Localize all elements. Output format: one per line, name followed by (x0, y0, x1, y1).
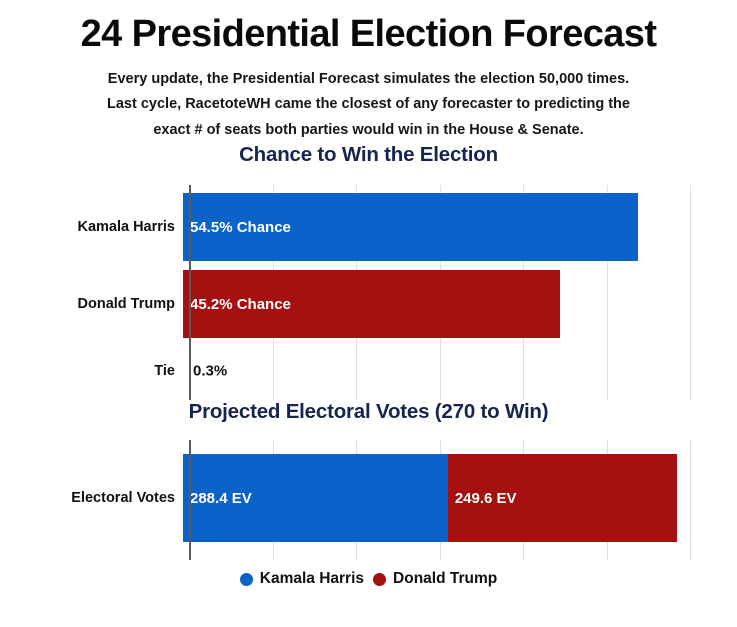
legend-item-kamala-harris[interactable]: Kamala Harris (240, 570, 364, 588)
bar-track-electoral-votes: 288.4 EV 249.6 EV (182, 454, 737, 542)
chart-legend: Kamala Harris Donald Trump (0, 570, 737, 588)
chart-chance-to-win: Chance to Win the Election Kamala Harris… (0, 143, 737, 400)
stack-value-donald-trump: 249.6 EV (448, 490, 517, 507)
legend-label-donald-trump: Donald Trump (393, 570, 497, 588)
bar-track-tie: 0.3% (182, 347, 737, 395)
bar-value-tie: 0.3% (186, 363, 227, 380)
stack-value-kamala-harris: 288.4 EV (183, 490, 252, 507)
bar-value-kamala-harris: 54.5% Chance (183, 219, 291, 236)
legend-item-donald-trump[interactable]: Donald Trump (373, 570, 497, 588)
legend-label-kamala-harris: Kamala Harris (260, 570, 364, 588)
bar-row-tie[interactable]: Tie 0.3% (0, 347, 737, 395)
bar-value-donald-trump: 45.2% Chance (183, 296, 291, 313)
bar-kamala-harris[interactable]: 54.5% Chance (183, 193, 638, 261)
stack-segment-donald-trump[interactable]: 249.6 EV (448, 454, 677, 542)
bar-row-kamala-harris[interactable]: Kamala Harris 54.5% Chance (0, 193, 737, 261)
bar-row-electoral-votes[interactable]: Electoral Votes 288.4 EV 249.6 EV (0, 454, 737, 542)
subtitle-line-1: Every update, the Presidential Forecast … (49, 67, 689, 92)
page-title: 24 Presidential Election Forecast (18, 14, 719, 55)
y-axis-line (189, 185, 191, 400)
subtitle-line-2: Last cycle, RacetoteWH came the closest … (49, 92, 689, 117)
bar-track-kamala-harris: 54.5% Chance (182, 193, 737, 261)
bar-donald-trump[interactable]: 45.2% Chance (183, 270, 560, 338)
page-subtitle: Every update, the Presidential Forecast … (49, 67, 689, 143)
page-header: 24 Presidential Election Forecast Every … (0, 0, 737, 143)
circle-marker-icon-donald-trump (373, 573, 386, 586)
plot-region-electoral-votes: Electoral Votes 288.4 EV 249.6 EV (0, 440, 737, 560)
category-label-kamala-harris: Kamala Harris (0, 219, 182, 235)
subtitle-line-3: exact # of seats both parties would win … (49, 118, 689, 143)
chart-chance-title: Chance to Win the Election (0, 143, 737, 167)
chart-electoral-votes: Projected Electoral Votes (270 to Win) E… (0, 400, 737, 588)
y-axis-line-ev (189, 440, 191, 560)
bar-row-donald-trump[interactable]: Donald Trump 45.2% Chance (0, 270, 737, 338)
chart-chance-plot-area: Kamala Harris 54.5% Chance Donald Trump … (0, 185, 737, 400)
chart-ev-plot-area: Electoral Votes 288.4 EV 249.6 EV (0, 440, 737, 560)
plot-region-chance: Kamala Harris 54.5% Chance Donald Trump … (0, 185, 737, 400)
bar-track-donald-trump: 45.2% Chance (182, 270, 737, 338)
category-label-electoral-votes: Electoral Votes (0, 490, 182, 506)
circle-marker-icon-kamala-harris (240, 573, 253, 586)
category-label-donald-trump: Donald Trump (0, 296, 182, 312)
category-label-tie: Tie (0, 363, 182, 379)
stack-segment-kamala-harris[interactable]: 288.4 EV (183, 454, 448, 542)
chart-electoral-votes-title: Projected Electoral Votes (270 to Win) (0, 400, 737, 424)
